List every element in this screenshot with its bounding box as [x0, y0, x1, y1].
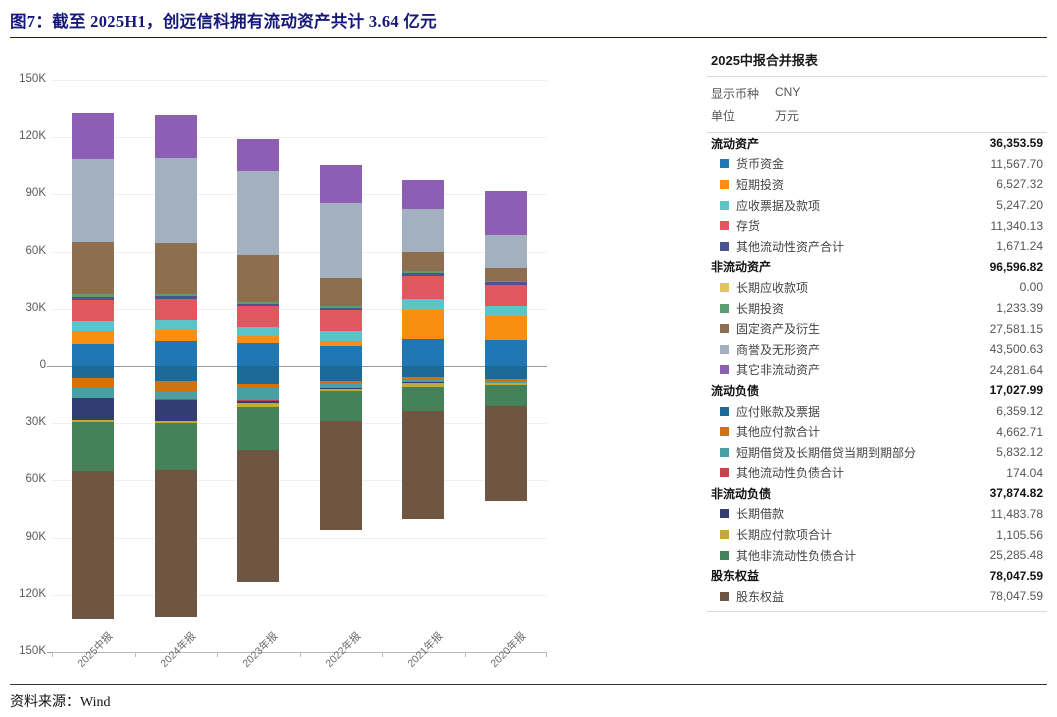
- y-axis-tick-label: 120K: [2, 130, 46, 142]
- report-row-amount: 11,483.78: [991, 507, 1048, 521]
- report-row-amount: 0.00: [1020, 280, 1047, 294]
- report-row-label: 股东权益: [736, 588, 990, 605]
- bar-segment[interactable]: [155, 400, 197, 421]
- x-axis-tick-mark: [52, 652, 53, 657]
- report-row-amount: 78,047.59: [990, 569, 1047, 583]
- liability-equity-stack[interactable]: [320, 366, 362, 530]
- report-item-row[interactable]: 应付账款及票据6,359.12: [707, 401, 1047, 422]
- x-axis-tick-mark: [135, 652, 136, 657]
- y-axis-tick-label: 150K: [2, 73, 46, 85]
- report-row-label: 短期投资: [736, 176, 996, 193]
- legend-swatch-icon: [720, 448, 729, 457]
- report-item-row[interactable]: 固定资产及衍生27,581.15: [707, 318, 1047, 339]
- bar-segment[interactable]: [72, 242, 114, 295]
- report-row-amount: 6,359.12: [996, 404, 1047, 418]
- y-axis-tick-label: 150K: [2, 645, 46, 657]
- bar-segment[interactable]: [72, 366, 114, 378]
- y-axis-tick-label: 120K: [2, 588, 46, 600]
- bar-segment[interactable]: [72, 113, 114, 159]
- report-row-amount: 1,671.24: [996, 239, 1047, 253]
- report-item-row[interactable]: 长期借款11,483.78: [707, 504, 1047, 525]
- report-item-row[interactable]: 应收票据及款项5,247.20: [707, 195, 1047, 216]
- bar-segment[interactable]: [237, 407, 279, 450]
- bar-column[interactable]: [135, 80, 218, 652]
- bar-segment[interactable]: [402, 252, 444, 271]
- report-row-label: 应付账款及票据: [736, 403, 996, 420]
- bar-column[interactable]: [52, 80, 135, 652]
- title-divider: [10, 37, 1047, 38]
- bar-segment[interactable]: [402, 276, 444, 299]
- bar-segment[interactable]: [485, 366, 527, 379]
- report-item-row[interactable]: 其他非流动性负债合计25,285.48: [707, 545, 1047, 566]
- report-row-amount: 78,047.59: [990, 589, 1047, 603]
- report-row-label: 存货: [736, 217, 991, 234]
- bar-segment[interactable]: [320, 421, 362, 530]
- report-group-row[interactable]: 非流动资产96,596.82: [707, 257, 1047, 278]
- bar-segment[interactable]: [485, 306, 527, 316]
- bar-segment[interactable]: [72, 331, 114, 343]
- bar-segment[interactable]: [402, 366, 444, 377]
- report-row-amount: 43,500.63: [990, 342, 1047, 356]
- bar-segment[interactable]: [155, 243, 197, 294]
- financial-report-panel: 2025中报合并报表 显示币种CNY单位万元 流动资产36,353.59货币资金…: [707, 48, 1047, 612]
- asset-stack[interactable]: [237, 139, 279, 366]
- report-item-row[interactable]: 商誉及无形资产43,500.63: [707, 339, 1047, 360]
- bar-segment[interactable]: [155, 320, 197, 330]
- report-row-amount: 4,662.71: [996, 425, 1047, 439]
- legend-swatch-icon: [720, 551, 729, 560]
- bar-segment[interactable]: [320, 310, 362, 331]
- report-item-row[interactable]: 长期应收款项0.00: [707, 277, 1047, 298]
- report-group-row[interactable]: 流动资产36,353.59: [707, 133, 1047, 154]
- bar-segment[interactable]: [155, 391, 197, 399]
- bar-segment[interactable]: [320, 391, 362, 421]
- legend-swatch-icon: [720, 180, 729, 189]
- bar-segment[interactable]: [155, 330, 197, 341]
- report-meta-value: 万元: [775, 107, 799, 124]
- bar-segment[interactable]: [402, 299, 444, 310]
- bar-segment[interactable]: [320, 203, 362, 278]
- report-row-amount: 24,281.64: [990, 363, 1047, 377]
- bar-segment[interactable]: [72, 321, 114, 331]
- bar-segment[interactable]: [155, 115, 197, 159]
- bar-segment[interactable]: [485, 316, 527, 341]
- report-item-row[interactable]: 短期投资6,527.32: [707, 174, 1047, 195]
- bar-segment[interactable]: [72, 387, 114, 398]
- legend-swatch-icon: [720, 159, 729, 168]
- bar-segment[interactable]: [237, 327, 279, 336]
- report-item-row[interactable]: 股东权益78,047.59: [707, 586, 1047, 607]
- asset-stack[interactable]: [320, 165, 362, 366]
- report-row-label: 商誉及无形资产: [736, 341, 990, 358]
- report-row-label: 非流动负债: [711, 485, 990, 502]
- report-row-list: 流动资产36,353.59货币资金11,567.70短期投资6,527.32应收…: [707, 133, 1047, 607]
- report-group-row[interactable]: 非流动负债37,874.82: [707, 483, 1047, 504]
- bar-segment[interactable]: [237, 336, 279, 343]
- report-row-label: 其他应付款合计: [736, 423, 996, 440]
- bar-segment[interactable]: [237, 366, 279, 384]
- legend-swatch-icon: [720, 509, 729, 518]
- report-meta-block: 显示币种CNY单位万元: [707, 77, 1047, 132]
- legend-swatch-icon: [720, 242, 729, 251]
- report-meta-row: 显示币种CNY: [707, 82, 1047, 104]
- report-row-label: 货币资金: [736, 155, 991, 172]
- report-item-row[interactable]: 其他流动性负债合计174.04: [707, 463, 1047, 484]
- legend-swatch-icon: [720, 201, 729, 210]
- source-note: 资料来源：Wind: [10, 691, 111, 711]
- figure-header: 图7：截至 2025H1，创远信科拥有流动资产共计 3.64 亿元: [10, 8, 1047, 38]
- legend-swatch-icon: [720, 345, 729, 354]
- bar-segment[interactable]: [485, 340, 527, 366]
- report-row-label: 长期应付款项合计: [736, 526, 996, 543]
- bar-segment[interactable]: [155, 158, 197, 242]
- bar-segment[interactable]: [402, 180, 444, 210]
- asset-stack[interactable]: [155, 115, 197, 366]
- report-item-row[interactable]: 长期应付款项合计1,105.56: [707, 524, 1047, 545]
- report-row-amount: 5,247.20: [996, 198, 1047, 212]
- report-row-amount: 1,105.56: [996, 528, 1047, 542]
- bar-segment[interactable]: [402, 411, 444, 519]
- liability-equity-stack[interactable]: [237, 366, 279, 582]
- legend-swatch-icon: [720, 283, 729, 292]
- bar-segment[interactable]: [320, 366, 362, 381]
- legend-swatch-icon: [720, 468, 729, 477]
- report-row-amount: 1,233.39: [996, 301, 1047, 315]
- report-row-label: 股东权益: [711, 567, 990, 584]
- bar-segment[interactable]: [485, 406, 527, 500]
- report-item-row[interactable]: 短期借贷及长期借贷当期到期部分5,832.12: [707, 442, 1047, 463]
- y-axis-tick-label: 90K: [2, 531, 46, 543]
- report-row-label: 其他非流动性负债合计: [736, 547, 990, 564]
- y-axis-tick-label: 0: [2, 359, 46, 371]
- bar-segment[interactable]: [155, 366, 197, 381]
- bar-segment[interactable]: [237, 387, 279, 400]
- bar-segment[interactable]: [155, 423, 197, 470]
- report-row-label: 长期借款: [736, 505, 991, 522]
- bar-segment[interactable]: [485, 235, 527, 268]
- report-row-amount: 27,581.15: [990, 322, 1047, 336]
- liability-equity-stack[interactable]: [402, 366, 444, 519]
- bar-segment[interactable]: [485, 285, 527, 306]
- chart-plot-area: 150K120K90K60K30K030K60K90K120K150K2025中…: [52, 80, 547, 652]
- report-row-label: 固定资产及衍生: [736, 320, 990, 337]
- report-meta-key: 显示币种: [711, 85, 775, 102]
- report-row-amount: 37,874.82: [990, 486, 1047, 500]
- liability-equity-stack[interactable]: [155, 366, 197, 617]
- x-axis-tick-mark: [465, 652, 466, 657]
- report-row-amount: 6,527.32: [996, 177, 1047, 191]
- legend-swatch-icon: [720, 407, 729, 416]
- report-row-amount: 5,832.12: [996, 445, 1047, 459]
- bar-segment[interactable]: [72, 471, 114, 620]
- bar-segment[interactable]: [402, 339, 444, 366]
- bar-segment[interactable]: [155, 299, 197, 320]
- bar-column[interactable]: [382, 80, 465, 652]
- report-row-label: 长期投资: [736, 300, 996, 317]
- bar-segment[interactable]: [237, 343, 279, 366]
- y-axis-tick-label: 30K: [2, 416, 46, 428]
- bar-segment[interactable]: [237, 306, 279, 326]
- stacked-bar-chart: 150K120K90K60K30K030K60K90K120K150K2025中…: [0, 50, 700, 680]
- x-axis-tick-mark: [300, 652, 301, 657]
- y-axis-tick-label: 60K: [2, 473, 46, 485]
- legend-swatch-icon: [720, 304, 729, 313]
- report-group-row[interactable]: 股东权益78,047.59: [707, 565, 1047, 586]
- bar-segment[interactable]: [320, 165, 362, 203]
- bar-segment[interactable]: [485, 191, 527, 236]
- report-bottom-divider: [707, 611, 1047, 612]
- report-row-label: 短期借贷及长期借贷当期到期部分: [736, 444, 996, 461]
- report-row-label: 非流动资产: [711, 258, 990, 275]
- y-axis-tick-label: 90K: [2, 187, 46, 199]
- bar-column[interactable]: [217, 80, 300, 652]
- report-meta-key: 单位: [711, 107, 775, 124]
- report-row-label: 其他流动性资产合计: [736, 238, 996, 255]
- report-row-amount: 11,340.13: [991, 219, 1048, 233]
- bar-segment[interactable]: [320, 278, 362, 306]
- y-axis-tick-label: 30K: [2, 302, 46, 314]
- report-group-row[interactable]: 流动负债17,027.99: [707, 380, 1047, 401]
- bar-segment[interactable]: [402, 209, 444, 252]
- report-item-row[interactable]: 其它非流动资产24,281.64: [707, 360, 1047, 381]
- legend-swatch-icon: [720, 365, 729, 374]
- bar-segment[interactable]: [155, 381, 197, 391]
- bar-segment[interactable]: [155, 470, 197, 617]
- report-row-amount: 11,567.70: [991, 157, 1048, 171]
- report-row-amount: 17,027.99: [990, 383, 1047, 397]
- bar-segment[interactable]: [485, 268, 527, 281]
- report-item-row[interactable]: 货币资金11,567.70: [707, 154, 1047, 175]
- report-row-amount: 36,353.59: [990, 136, 1047, 150]
- x-axis-tick-mark: [546, 652, 547, 657]
- bar-segment[interactable]: [72, 300, 114, 322]
- report-item-row[interactable]: 存货11,340.13: [707, 215, 1047, 236]
- x-axis-tick-mark: [217, 652, 218, 657]
- report-item-row[interactable]: 其他应付款合计4,662.71: [707, 421, 1047, 442]
- report-row-amount: 25,285.48: [990, 548, 1047, 562]
- liability-equity-stack[interactable]: [485, 366, 527, 501]
- page-title: 图7：截至 2025H1，创远信科拥有流动资产共计 3.64 亿元: [10, 8, 1047, 32]
- bar-segment[interactable]: [402, 310, 444, 339]
- legend-swatch-icon: [720, 427, 729, 436]
- report-row-label: 流动资产: [711, 135, 990, 152]
- report-row-label: 流动负债: [711, 382, 990, 399]
- report-row-label: 其他流动性负债合计: [736, 464, 1006, 481]
- bar-segment[interactable]: [237, 255, 279, 302]
- legend-swatch-icon: [720, 324, 729, 333]
- bar-segment[interactable]: [485, 385, 527, 407]
- bar-segment[interactable]: [72, 398, 114, 420]
- bar-segment[interactable]: [72, 344, 114, 366]
- bar-segment[interactable]: [155, 341, 197, 366]
- legend-swatch-icon: [720, 592, 729, 601]
- legend-swatch-icon: [720, 221, 729, 230]
- bar-segment[interactable]: [237, 171, 279, 255]
- report-meta-value: CNY: [775, 85, 800, 102]
- asset-stack[interactable]: [402, 180, 444, 366]
- bar-segment[interactable]: [237, 139, 279, 171]
- bar-segment[interactable]: [72, 159, 114, 242]
- bar-segment[interactable]: [72, 378, 114, 387]
- report-row-label: 其它非流动资产: [736, 361, 990, 378]
- bar-segment[interactable]: [320, 346, 362, 366]
- report-row-label: 长期应收款项: [736, 279, 1020, 296]
- report-row-label: 应收票据及款项: [736, 197, 996, 214]
- legend-swatch-icon: [720, 530, 729, 539]
- report-meta-row: 单位万元: [707, 104, 1047, 126]
- asset-stack[interactable]: [72, 113, 114, 366]
- report-row-amount: 174.04: [1006, 466, 1047, 480]
- bar-segment[interactable]: [402, 387, 444, 410]
- liability-equity-stack[interactable]: [72, 366, 114, 619]
- bar-segment[interactable]: [72, 422, 114, 470]
- bar-segment[interactable]: [320, 331, 362, 340]
- report-item-row[interactable]: 其他流动性资产合计1,671.24: [707, 236, 1047, 257]
- report-row-amount: 96,596.82: [990, 260, 1047, 274]
- report-item-row[interactable]: 长期投资1,233.39: [707, 298, 1047, 319]
- bar-column[interactable]: [465, 80, 548, 652]
- bar-segment[interactable]: [237, 450, 279, 582]
- asset-stack[interactable]: [485, 191, 527, 366]
- x-axis-tick-mark: [382, 652, 383, 657]
- report-heading: 2025中报合并报表: [707, 48, 1047, 76]
- footer-divider: [10, 684, 1047, 685]
- bar-column[interactable]: [300, 80, 383, 652]
- y-axis-tick-label: 60K: [2, 245, 46, 257]
